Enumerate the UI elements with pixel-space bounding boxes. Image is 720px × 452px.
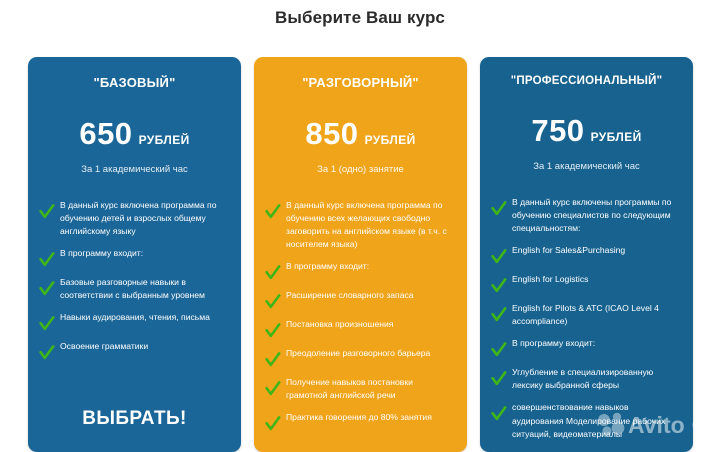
price-currency-conversational: РУБЛЕЙ bbox=[365, 133, 416, 147]
list-item: English for Sales&Purchasing bbox=[491, 244, 682, 264]
list-item: Навыки аудирования, чтения, письма bbox=[39, 311, 230, 331]
check-icon bbox=[265, 322, 281, 338]
price-note-professional: За 1 академический час bbox=[491, 161, 682, 172]
page-title: Выберите Ваш курс bbox=[0, 8, 720, 28]
list-item: English for Pilots & ATC (ICAO Level 4 a… bbox=[491, 302, 682, 328]
card-title-conversational: "РАЗГОВОРНЫЙ" bbox=[265, 75, 456, 90]
list-item: Расширение словарного запаса bbox=[265, 289, 456, 309]
check-icon bbox=[491, 405, 507, 421]
list-item-label: Постановка произношения bbox=[286, 318, 456, 331]
pricing-page: Выберите Ваш курс "БАЗОВЫЙ" 650РУБЛЕЙ За… bbox=[0, 0, 720, 452]
list-item-label: В программу входит: bbox=[286, 260, 456, 273]
list-item-label: English for Logistics bbox=[512, 273, 682, 286]
feature-list-conversational: В данный курс включена программа по обуч… bbox=[265, 199, 456, 431]
list-item: совершенствование навыков аудирования Мо… bbox=[491, 401, 682, 440]
check-icon bbox=[265, 293, 281, 309]
check-icon bbox=[39, 251, 55, 267]
check-icon bbox=[39, 315, 55, 331]
list-item-label: В данный курс включены программы по обуч… bbox=[512, 196, 682, 235]
price-row-basic: 650РУБЛЕЙ bbox=[39, 116, 230, 152]
check-icon bbox=[265, 351, 281, 367]
card-title-professional: "ПРОФЕССИОНАЛЬНЫЙ" bbox=[491, 75, 682, 87]
list-item: Постановка произношения bbox=[265, 318, 456, 338]
list-item-label: В данный курс включена программа по обуч… bbox=[286, 199, 456, 251]
price-currency-basic: РУБЛЕЙ bbox=[139, 133, 190, 147]
price-amount-basic: 650 bbox=[79, 116, 132, 151]
check-icon bbox=[491, 200, 507, 216]
price-currency-professional: РУБЛЕЙ bbox=[591, 130, 642, 144]
feature-list-professional: В данный курс включены программы по обуч… bbox=[491, 196, 682, 452]
check-icon bbox=[491, 306, 507, 322]
list-item-label: Преодоление разговорного барьера bbox=[286, 347, 456, 360]
list-item-label: Получение навыков постановки грамотной а… bbox=[286, 376, 456, 402]
pricing-cards-container: "БАЗОВЫЙ" 650РУБЛЕЙ За 1 академический ч… bbox=[28, 57, 694, 452]
price-amount-conversational: 850 bbox=[305, 116, 358, 151]
list-item: Базовые разговорные навыки в соответстви… bbox=[39, 276, 230, 302]
price-row-conversational: 850РУБЛЕЙ bbox=[265, 116, 456, 152]
price-row-professional: 750РУБЛЕЙ bbox=[491, 113, 682, 149]
list-item-label: English for Pilots & ATC (ICAO Level 4 a… bbox=[512, 302, 682, 328]
list-item-label: Освоение грамматики bbox=[60, 340, 230, 353]
check-icon bbox=[39, 344, 55, 360]
list-item: В данный курс включена программа по обуч… bbox=[39, 199, 230, 238]
list-item: В данный курс включена программа по обуч… bbox=[265, 199, 456, 251]
list-item-label: Углубление в специализированную лексику … bbox=[512, 366, 682, 392]
list-item-label: Расширение словарного запаса bbox=[286, 289, 456, 302]
list-item: Освоение грамматики bbox=[39, 340, 230, 360]
list-item: В программу входит: bbox=[39, 247, 230, 267]
list-item-label: Практика говорения до 80% занятия bbox=[286, 411, 456, 424]
card-title-basic: "БАЗОВЫЙ" bbox=[39, 75, 230, 90]
check-icon bbox=[265, 380, 281, 396]
check-icon bbox=[491, 248, 507, 264]
list-item: English for Logistics bbox=[491, 273, 682, 293]
list-item-label: English for Sales&Purchasing bbox=[512, 244, 682, 257]
price-note-basic: За 1 академический час bbox=[39, 164, 230, 175]
list-item: Углубление в специализированную лексику … bbox=[491, 366, 682, 392]
check-icon bbox=[265, 415, 281, 431]
check-icon bbox=[491, 341, 507, 357]
price-amount-professional: 750 bbox=[531, 113, 584, 148]
list-item-label: совершенствование навыков аудирования Мо… bbox=[512, 401, 682, 440]
list-item: В программу входит: bbox=[491, 337, 682, 357]
price-note-conversational: За 1 (одно) занятие bbox=[265, 164, 456, 175]
check-icon bbox=[39, 203, 55, 219]
list-item: Получение навыков постановки грамотной а… bbox=[265, 376, 456, 402]
pricing-card-conversational[interactable]: "РАЗГОВОРНЫЙ" 850РУБЛЕЙ За 1 (одно) заня… bbox=[254, 57, 467, 452]
list-item-label: Навыки аудирования, чтения, письма bbox=[60, 311, 230, 324]
feature-list-basic: В данный курс включена программа по обуч… bbox=[39, 199, 230, 360]
list-item-label: В программу входит: bbox=[512, 337, 682, 350]
list-item: В данный курс включены программы по обуч… bbox=[491, 196, 682, 235]
list-item: Практика говорения до 80% занятия bbox=[265, 411, 456, 431]
pricing-card-basic[interactable]: "БАЗОВЫЙ" 650РУБЛЕЙ За 1 академический ч… bbox=[28, 57, 241, 452]
list-item-label: В программу входит: bbox=[60, 247, 230, 260]
check-icon bbox=[491, 277, 507, 293]
check-icon bbox=[491, 370, 507, 386]
list-item: Преодоление разговорного барьера bbox=[265, 347, 456, 367]
select-button-basic[interactable]: ВЫБРАТЬ! bbox=[28, 408, 241, 430]
list-item-label: В данный курс включена программа по обуч… bbox=[60, 199, 230, 238]
list-item-label: Базовые разговорные навыки в соответстви… bbox=[60, 276, 230, 302]
check-icon bbox=[265, 264, 281, 280]
pricing-card-professional[interactable]: "ПРОФЕССИОНАЛЬНЫЙ" 750РУБЛЕЙ За 1 академ… bbox=[480, 57, 693, 452]
list-item: В программу входит: bbox=[265, 260, 456, 280]
check-icon bbox=[265, 203, 281, 219]
check-icon bbox=[39, 280, 55, 296]
